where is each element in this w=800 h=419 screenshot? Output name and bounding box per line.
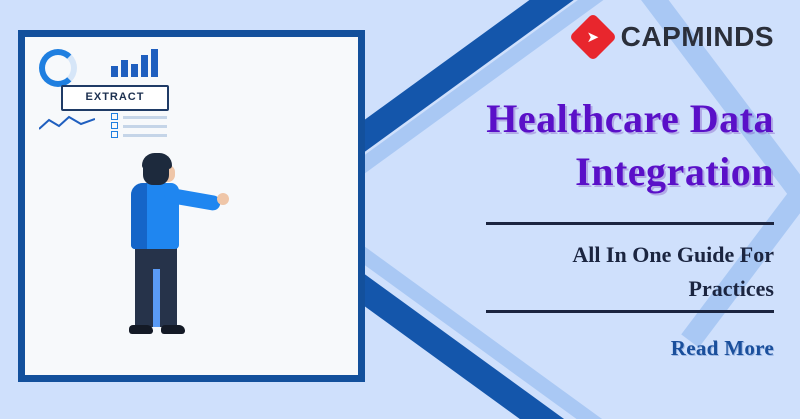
monitor: EXTRACT bbox=[25, 37, 193, 141]
illustration-frame: EXTRACT bbox=[18, 30, 365, 382]
divider-bottom bbox=[486, 310, 774, 313]
line-chart-icon bbox=[39, 113, 95, 133]
promo-banner: EXTRACT bbox=[0, 0, 800, 419]
bar-chart-icon bbox=[111, 47, 163, 77]
person-hand bbox=[217, 193, 229, 205]
extract-button[interactable]: EXTRACT bbox=[61, 85, 169, 111]
brand-name: CAPMINDS bbox=[621, 21, 774, 53]
divider-top bbox=[486, 222, 774, 225]
subtitle-line-2: Practices bbox=[434, 272, 774, 306]
checklist-row bbox=[111, 115, 167, 120]
subtitle: All In One Guide For Practices bbox=[434, 238, 774, 306]
person-torso-shade bbox=[131, 183, 147, 249]
person-hair bbox=[142, 153, 172, 169]
headline-line-1: Healthcare Data bbox=[394, 92, 774, 145]
brand-logo[interactable]: ➤ CAPMINDS bbox=[576, 20, 774, 54]
read-more-link[interactable]: Read More bbox=[671, 336, 774, 361]
person-shoe-left bbox=[129, 325, 153, 334]
floor-accent-band bbox=[25, 375, 358, 382]
subtitle-line-1: All In One Guide For bbox=[434, 238, 774, 272]
checklist-row bbox=[111, 124, 167, 129]
checklist-row bbox=[111, 133, 167, 138]
illustration-canvas: EXTRACT bbox=[25, 37, 358, 375]
donut-chart-icon bbox=[39, 49, 77, 87]
headline-line-2: Integration bbox=[394, 145, 774, 198]
person-shoe-right bbox=[161, 325, 185, 334]
red-diamond-play-icon: ➤ bbox=[569, 13, 617, 61]
person-leg-gap bbox=[153, 269, 160, 327]
page-title: Healthcare Data Integration bbox=[394, 92, 774, 198]
